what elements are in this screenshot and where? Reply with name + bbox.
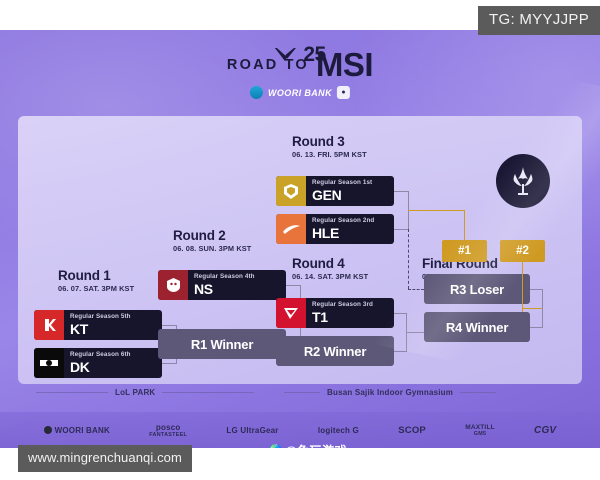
woori-bank-wave-icon: [250, 86, 263, 99]
team-box-kt[interactable]: Regular Season 5th KT: [34, 310, 162, 340]
venue2-rule-left: [284, 392, 320, 393]
team-name-gen: GEN: [312, 188, 372, 203]
connector-r1-top: [162, 325, 176, 326]
maxtill-logo: MAXTILL: [465, 424, 495, 431]
connector-r3-top: [394, 191, 408, 192]
sponsor-woori-bank: WOORI BANK: [44, 426, 110, 435]
kespa-badge-icon: ●: [337, 86, 350, 99]
header-sponsor-badge: WOORI BANK ●: [227, 86, 373, 99]
logitech-g-logo: logitech G: [318, 426, 359, 435]
venue-busan-sajik: Busan Sajik Indoor Gymnasium: [284, 388, 496, 397]
round-2-title: Round 2 06. 08. SUN. 3PM KST: [173, 228, 251, 253]
dplus-kia-logo: [34, 348, 64, 378]
round-3-title: Round 3 06. 13. FRI. 5PM KST: [292, 134, 367, 159]
sponsor-maxtill: MAXTILL GM5: [465, 424, 495, 437]
connector-r3-to-qual1-v: [464, 210, 465, 240]
connector-r4-top: [394, 313, 406, 314]
connector-r3-to-qual1-h: [408, 210, 464, 211]
team-box-gen[interactable]: Regular Season 1st GEN: [276, 176, 394, 206]
qualifier-slot-2[interactable]: #2: [500, 240, 545, 262]
logo-msi: MSI: [316, 49, 373, 80]
slot-box-r2-winner[interactable]: R2 Winner: [276, 336, 394, 366]
team-seed-gen: Regular Season 1st: [312, 180, 372, 187]
weibo-watermark: 🌎 @兔玩游戏: [268, 442, 347, 448]
connector-r1-bottom: [162, 363, 176, 364]
slot-box-r4-winner[interactable]: R4 Winner: [424, 312, 530, 342]
scop-logo: SCOP: [398, 425, 426, 436]
connector-final-bottom: [530, 327, 542, 328]
team-seed-hle: Regular Season 2nd: [312, 218, 374, 225]
kt-rolster-logo: [34, 310, 64, 340]
hanwha-life-logo: [276, 214, 306, 244]
team-seed-t1: Regular Season 3rd: [312, 302, 373, 309]
team-seed-ns: Regular Season 4th: [194, 274, 255, 281]
team-name-ns: NS: [194, 282, 255, 297]
connector-r3-bottom: [394, 229, 408, 230]
team-name-kt: KT: [70, 322, 131, 337]
woori-bank-logo: [44, 426, 52, 434]
venue2-rule-right: [460, 392, 496, 393]
team-name-t1: T1: [312, 310, 373, 325]
connector-r4-out: [406, 332, 424, 333]
qualifier-slot-1[interactable]: #1: [442, 240, 487, 262]
connector-final-to-qual2-h: [522, 308, 542, 309]
posco-logo: posco: [156, 423, 181, 432]
team-box-dk[interactable]: Regular Season 6th DK: [34, 348, 162, 378]
cgv-logo: CGV: [534, 425, 556, 436]
round-1-title: Round 1 06. 07. SAT. 3PM KST: [58, 268, 134, 293]
venue-row: LoL PARK Busan Sajik Indoor Gymnasium: [18, 386, 582, 408]
sponsor-scop: SCOP: [398, 425, 426, 436]
venue-lol-park: LoL PARK: [36, 388, 254, 397]
nongshim-logo: [158, 270, 188, 300]
t1-logo: [276, 298, 306, 328]
logo-bottom-row: ROAD TO MSI: [227, 49, 373, 80]
sponsor-cgv: CGV: [534, 425, 556, 436]
sponsor-lg-ultragear: LG UltraGear: [226, 426, 278, 435]
team-seed-dk: Regular Season 6th: [70, 352, 131, 359]
team-name-hle: HLE: [312, 226, 374, 241]
venue-rule-left: [36, 392, 108, 393]
event-logo: 25 ROAD TO MSI WOORI BANK ●: [227, 44, 373, 99]
connector-r2-top: [286, 285, 300, 286]
connector-r3-loser-dashed-v: [408, 229, 409, 289]
slot-box-r3-loser[interactable]: R3 Loser: [424, 274, 530, 304]
team-box-ns[interactable]: Regular Season 4th NS: [158, 270, 286, 300]
weibo-handle: @兔玩游戏: [285, 442, 347, 448]
connector-r4-bottom: [394, 351, 406, 352]
connector-final-top: [530, 289, 542, 290]
slot-box-r1-winner[interactable]: R1 Winner: [158, 329, 286, 359]
header-sponsor-name: WOORI BANK: [268, 88, 332, 98]
bracket-panel: Round 1 06. 07. SAT. 3PM KST Regular Sea…: [18, 116, 582, 384]
team-seed-kt: Regular Season 5th: [70, 314, 131, 321]
connector-r3-loser-dashed-h: [408, 289, 424, 290]
team-name-dk: DK: [70, 360, 131, 375]
team-box-hle[interactable]: Regular Season 2nd HLE: [276, 214, 394, 244]
msi-bracket-poster: 25 ROAD TO MSI WOORI BANK ● Round 1 06. …: [0, 30, 600, 448]
weibo-icon: 🌎: [268, 444, 283, 449]
sponsor-posco: posco FANTASTEEL: [149, 423, 187, 438]
sponsor-logitech-g: logitech G: [318, 426, 359, 435]
poster-header: 25 ROAD TO MSI WOORI BANK ●: [0, 30, 600, 118]
team-box-t1[interactable]: Regular Season 3rd T1: [276, 298, 394, 328]
venue-rule-right: [162, 392, 254, 393]
website-url-overlay: www.mingrenchuanqi.com: [18, 445, 192, 472]
logo-road-to: ROAD TO: [227, 57, 309, 73]
telegram-tag-overlay: TG: MYYJJPP: [478, 6, 600, 35]
lg-ultragear-logo: LG UltraGear: [226, 426, 278, 435]
round-4-title: Round 4 06. 14. SAT. 3PM KST: [292, 256, 368, 281]
connector-final-join: [542, 289, 543, 328]
msi-trophy-emblem-icon: [496, 154, 550, 208]
gen-g-logo: [276, 176, 306, 206]
screenshot-root: 25 ROAD TO MSI WOORI BANK ● Round 1 06. …: [0, 0, 600, 480]
